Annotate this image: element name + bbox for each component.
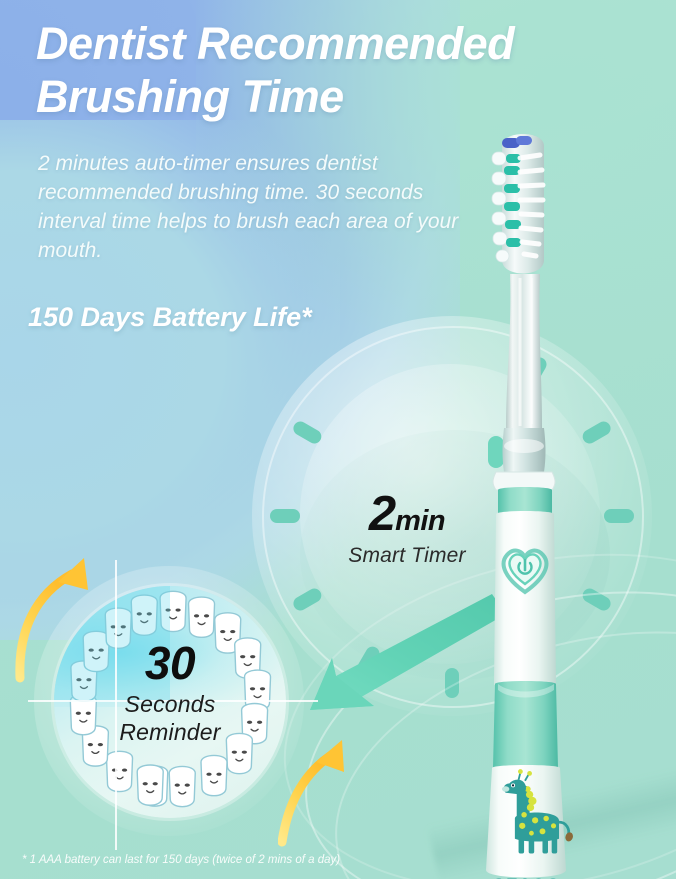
brand-logo-text: SEAGO (492, 875, 559, 879)
footnote: * 1 AAA battery can last for 150 days (t… (22, 854, 340, 866)
seconds-label-line1: Seconds (84, 690, 256, 718)
product-feature-poster: 30 Seconds Reminder (0, 0, 676, 879)
seconds-label-line2: Reminder (84, 718, 256, 746)
smart-timer-callout: 2min Smart Timer (312, 486, 502, 568)
timer-number: 2 (369, 487, 395, 541)
yellow-curved-arrow-up-left (14, 552, 134, 692)
battery-life-subhead: 150 Days Battery Life* (28, 302, 312, 333)
neck-mint-tab (488, 436, 504, 468)
timer-label: Smart Timer (312, 544, 502, 568)
timer-value: 2min (312, 486, 502, 542)
yellow-curved-arrow-up-right (278, 730, 398, 870)
timer-unit: min (395, 505, 445, 537)
page-title: Dentist Recommended Brushing Time (36, 18, 646, 123)
body-copy: 2 minutes auto-timer ensures dentist rec… (38, 150, 468, 266)
